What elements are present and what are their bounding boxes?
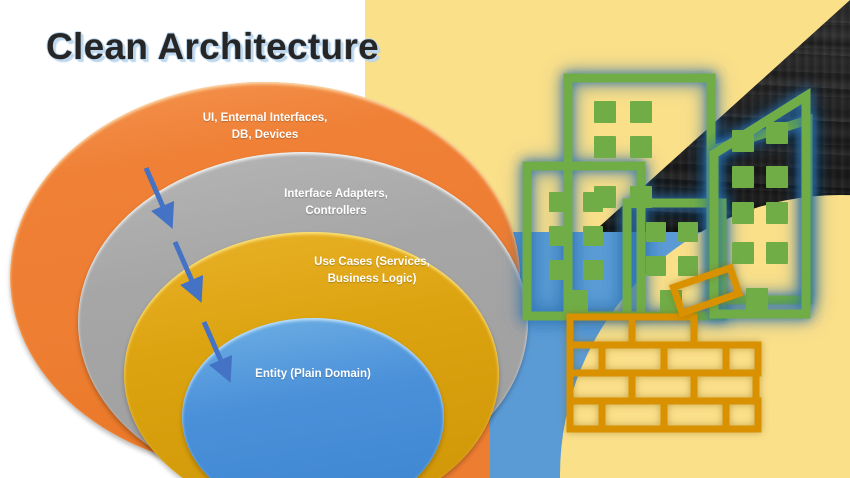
brick	[570, 345, 602, 373]
brick	[632, 317, 694, 345]
window	[630, 186, 652, 208]
window	[583, 192, 603, 212]
brick	[694, 373, 756, 401]
window	[678, 256, 698, 276]
brick	[726, 345, 758, 373]
door	[746, 288, 768, 317]
window	[583, 260, 603, 280]
brick	[664, 401, 726, 429]
brick	[602, 345, 664, 373]
brick	[632, 373, 694, 401]
artwork-svg	[0, 0, 850, 478]
artwork-layer	[0, 0, 850, 478]
window	[646, 222, 666, 242]
window	[766, 242, 788, 264]
building-windows	[549, 101, 788, 317]
window	[583, 226, 603, 246]
window	[732, 166, 754, 188]
brick	[570, 401, 602, 429]
window	[594, 136, 616, 158]
slide-canvas: Clean Architecture UI, Enternal Interfac…	[0, 0, 850, 478]
window	[549, 226, 569, 246]
window	[732, 202, 754, 224]
window	[766, 202, 788, 224]
window	[646, 256, 666, 276]
brick	[570, 373, 632, 401]
window	[549, 260, 569, 280]
page-title: Clean Architecture	[46, 26, 379, 68]
window	[766, 122, 788, 144]
window	[766, 166, 788, 188]
window	[678, 222, 698, 242]
window	[732, 242, 754, 264]
window	[594, 101, 616, 123]
brick	[602, 401, 664, 429]
window	[630, 136, 652, 158]
brick	[570, 317, 632, 345]
window	[549, 192, 569, 212]
window	[732, 130, 754, 152]
brick	[664, 345, 726, 373]
brick-wall-icon	[570, 317, 758, 429]
window	[630, 101, 652, 123]
brick	[726, 401, 758, 429]
city-buildings-icon	[527, 78, 808, 316]
door	[566, 290, 588, 317]
